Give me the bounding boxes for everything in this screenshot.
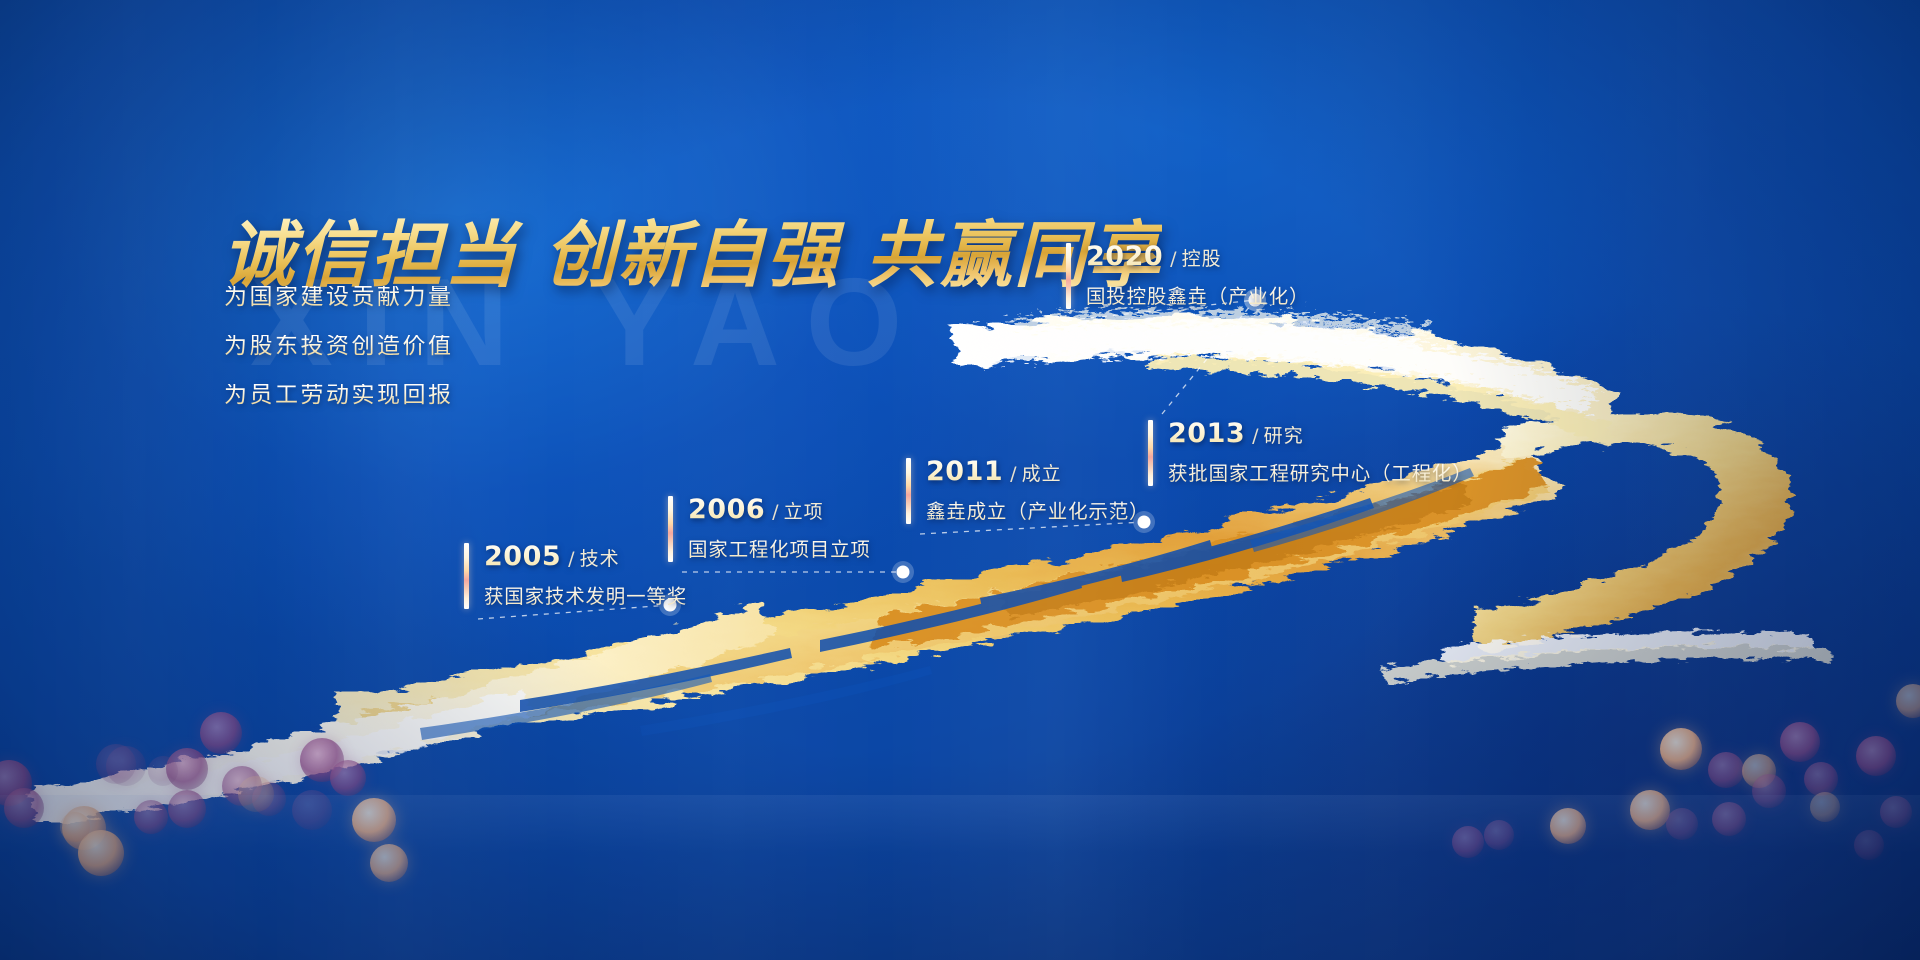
- bokeh-orb: [1880, 796, 1912, 828]
- bokeh-orb: [1854, 830, 1884, 860]
- bokeh-orb: [4, 788, 44, 828]
- bokeh-orb: [1856, 736, 1896, 776]
- bokeh-orb: [148, 756, 178, 786]
- bokeh-orb: [166, 748, 208, 790]
- marker-year: 2020: [1086, 241, 1163, 272]
- timeline-marker-2005[interactable]: 2005/技术 获国家技术发明一等奖: [464, 543, 687, 609]
- marker-tag: 研究: [1264, 425, 1304, 447]
- marker-heading: 2005/技术: [484, 543, 687, 571]
- bokeh-orb: [1780, 722, 1820, 762]
- marker-year: 2011: [926, 456, 1003, 487]
- marker-year: 2013: [1168, 418, 1245, 449]
- bokeh-orb: [1896, 684, 1920, 718]
- banner-canvas: XIN YAO 诚信担当创新自强共赢同享 为国家建设贡献力量 为股东投资创造价值…: [0, 0, 1920, 960]
- marker-tag: 技术: [580, 548, 620, 570]
- accent-bar: [464, 543, 469, 609]
- marker-separator: /: [1010, 463, 1016, 485]
- marker-separator: /: [772, 501, 778, 523]
- bokeh-orb: [60, 812, 90, 842]
- bokeh-orb: [1630, 790, 1670, 830]
- bokeh-orb: [252, 782, 286, 816]
- bokeh-orb: [0, 760, 32, 806]
- bokeh-orb: [96, 744, 136, 784]
- timeline-marker-2006[interactable]: 2006/立项 国家工程化项目立项: [668, 496, 871, 562]
- marker-heading: 2020/控股: [1086, 243, 1309, 271]
- bokeh-orb: [1804, 762, 1838, 796]
- marker-heading: 2013/研究: [1168, 420, 1473, 448]
- timeline-marker-2013[interactable]: 2013/研究 获批国家工程研究中心（工程化）: [1148, 420, 1473, 486]
- marker-heading: 2006/立项: [688, 496, 871, 524]
- bokeh-orb: [106, 746, 146, 786]
- marker-description: 获批国家工程研究中心（工程化）: [1168, 457, 1473, 486]
- bokeh-orb: [370, 844, 408, 882]
- marker-separator: /: [1170, 248, 1176, 270]
- accent-bar: [1148, 420, 1153, 486]
- subtitle-line-2: 为股东投资创造价值: [224, 335, 454, 358]
- subtitle-line-1: 为国家建设贡献力量: [224, 286, 454, 309]
- marker-heading: 2011/成立: [926, 458, 1149, 486]
- marker-tag: 控股: [1182, 248, 1222, 270]
- headline-part-2: 创新自强: [544, 213, 840, 297]
- bokeh-orb: [1666, 808, 1698, 840]
- subtitle-line-3: 为员工劳动实现回报: [224, 384, 454, 407]
- bokeh-orb: [330, 760, 366, 796]
- marker-description: 鑫垚成立（产业化示范）: [926, 495, 1149, 524]
- bokeh-orb: [222, 766, 262, 806]
- marker-description: 国投控股鑫垚（产业化）: [1086, 280, 1309, 309]
- accent-bar: [906, 458, 911, 524]
- subtitle-list: 为国家建设贡献力量 为股东投资创造价值 为员工劳动实现回报: [224, 286, 454, 433]
- accent-bar: [668, 496, 673, 562]
- bokeh-orb: [1712, 802, 1746, 836]
- bokeh-orb: [200, 712, 242, 754]
- bokeh-orb: [1810, 792, 1840, 822]
- bokeh-orb: [300, 738, 344, 782]
- bokeh-orb: [292, 790, 332, 830]
- bokeh-orb: [1708, 752, 1744, 788]
- bokeh-orb: [1752, 774, 1786, 808]
- marker-tag: 立项: [784, 501, 824, 523]
- bokeh-orb: [1484, 820, 1514, 850]
- bokeh-orb: [1742, 754, 1776, 788]
- bokeh-orb: [78, 830, 124, 876]
- bokeh-orb: [62, 806, 106, 850]
- timeline-marker-2020[interactable]: 2020/控股 国投控股鑫垚（产业化）: [1066, 243, 1309, 309]
- horizon-band: [0, 795, 1920, 853]
- marker-year: 2006: [688, 494, 765, 525]
- marker-description: 获国家技术发明一等奖: [484, 580, 687, 609]
- bokeh-orb: [1660, 728, 1702, 770]
- bokeh-orb: [352, 798, 396, 842]
- marker-description: 国家工程化项目立项: [688, 533, 871, 562]
- accent-bar: [1066, 243, 1071, 309]
- bokeh-orb: [1550, 808, 1586, 844]
- bokeh-orb: [1452, 826, 1484, 858]
- bokeh-orb: [134, 800, 168, 834]
- marker-tag: 成立: [1022, 463, 1062, 485]
- bokeh-orb: [168, 790, 206, 828]
- marker-separator: /: [568, 548, 574, 570]
- timeline-marker-2011[interactable]: 2011/成立 鑫垚成立（产业化示范）: [906, 458, 1149, 524]
- marker-separator: /: [1252, 425, 1258, 447]
- marker-year: 2005: [484, 541, 561, 572]
- bokeh-orb: [238, 776, 274, 812]
